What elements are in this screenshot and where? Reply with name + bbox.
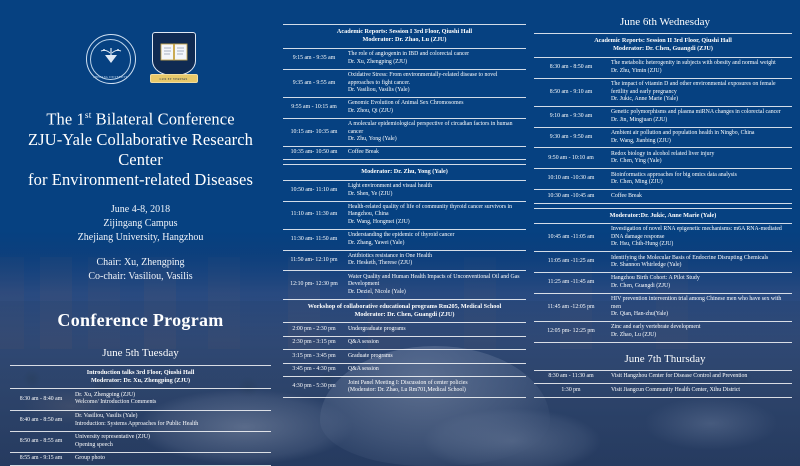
zju-seal-ring-text: ZHEJIANG UNIVERSITY — [87, 76, 135, 79]
table-row: 9:10 am - 9:30 amGenetic polymorphisms a… — [534, 106, 792, 127]
day-heading-june5: June 5th Tuesday — [0, 347, 281, 359]
conf-dates: June 4-8, 2018 — [0, 203, 281, 217]
zju-bird-glyph — [98, 45, 124, 67]
session-time: 10:30 am -10:45 am — [534, 190, 608, 203]
yale-shield-icon: LUX ET VERITAS — [152, 32, 196, 84]
session-time: 8:50 am - 8:55 am — [10, 431, 72, 452]
session-description: A molecular epidemiological perspective … — [345, 118, 526, 146]
right-column: June 6th Wednesday Academic Reports: Ses… — [530, 0, 800, 466]
table-row: 8:30 am - 11:30 amVisit Hangzhou Center … — [534, 370, 792, 383]
table-row: 2:30 pm - 3:15 pmQ&A session — [283, 336, 526, 349]
conf-title-line1b: Bilateral Conference — [91, 110, 234, 129]
session-time: 11:05 am -11:25 am — [534, 252, 608, 273]
session-description: Q&A session — [345, 336, 526, 349]
table-row: 11:30 am- 11:50 amUnderstanding the epid… — [283, 229, 526, 250]
session-header-intro-talks-label: Introduction talks 3rd Floor, Qiushi Hal… — [10, 365, 271, 389]
session-description: Coffee Break — [345, 146, 526, 159]
table-row: 8:55 am - 9:15 amGroup photo — [10, 452, 271, 466]
session-description: Hangzhou Birth Cohort: A Pilot StudyDr. … — [608, 272, 792, 293]
session-time: 8:30 am - 8:50 am — [534, 57, 608, 78]
table-row: 12:05 pm- 12:25 pmZinc and early vertebr… — [534, 321, 792, 342]
session-time: 10:45 am -11:05 am — [534, 223, 608, 251]
session-description: Genomic Evolution of Animal Sex Chromoso… — [345, 97, 526, 118]
session-time: 9:50 am - 10:10 am — [534, 148, 608, 169]
day-heading-june6: June 6th Wednesday — [530, 16, 800, 28]
session-description: Coffee Break — [608, 190, 792, 203]
session-time: 2:00 pm - 2:30 pm — [283, 323, 345, 336]
table-row: 11:05 am -11:25 amIdentifying the Molecu… — [534, 252, 792, 273]
session-time: 4:30 pm - 5:30 pm — [283, 377, 345, 398]
session-description: Understanding the epidemic of thyroid ca… — [345, 229, 526, 250]
yale-ribbon-text: LUX ET VERITAS — [150, 74, 198, 83]
session-header-session1b-label: Moderator: Dr. Zhu, Yong (Yale) — [283, 165, 526, 180]
session-time: 8:30 am - 11:30 am — [534, 370, 608, 383]
page-title: The 1st Bilateral Conference ZJU-Yale Co… — [0, 106, 281, 190]
session-description: Zinc and early vertebrate developmentDr.… — [608, 321, 792, 342]
table-row: 8:30 am - 8:40 amDr. Xu, Zhengping (ZJU)… — [10, 389, 271, 410]
session-description: Dr. Xu, Zhengping (ZJU)Welcome/ Introduc… — [72, 389, 271, 410]
table-row: 2:00 pm - 2:30 pmUndergraduate programs — [283, 323, 526, 336]
session-description: Group photo — [72, 452, 271, 466]
table-row: 4:30 pm - 5:30 pmJoint Panel Meeting I: … — [283, 377, 526, 398]
zju-seal-icon: ZHEJIANG UNIVERSITY — [86, 34, 136, 84]
table-row: 10:10 am -10:30 amBioinformatics approac… — [534, 169, 792, 190]
table-row: 8:50 am - 9:10 amThe impact of vitamin D… — [534, 78, 792, 106]
table-row: 1:30 pmVisit Jiangcun Community Health C… — [534, 384, 792, 397]
conf-title-line3: for Environment-related Diseases — [28, 170, 253, 189]
session-time: 2:30 pm - 3:15 pm — [283, 336, 345, 349]
session-description: Dr. Vasiliou, Vasilis (Yale)Introduction… — [72, 410, 271, 431]
table-row: 11:50 am- 12:10 pmAntibiotics resistance… — [283, 250, 526, 271]
schedule-body-june5: Introduction talks 3rd Floor, Qiushi Hal… — [10, 365, 271, 466]
session-time: 8:40 am - 8:50 am — [10, 410, 72, 431]
session-time: 8:50 am - 9:10 am — [534, 78, 608, 106]
session-header-session1: Academic Reports: Session I 3rd Floor, Q… — [283, 25, 526, 49]
session-time: 9:55 am - 10:15 am — [283, 97, 345, 118]
session-description: Light environment and visual healthDr. S… — [345, 180, 526, 201]
session-description: Investigation of novel RNA epigenetic me… — [608, 223, 792, 251]
session-header-intro-talks: Introduction talks 3rd Floor, Qiushi Hal… — [10, 365, 271, 389]
session-description: Water Quality and Human Health Impacts o… — [345, 271, 526, 299]
table-row: 9:50 am - 10:10 amRedox biology in alcoh… — [534, 148, 792, 169]
session-description: Antibiotics resistance in One HealthDr. … — [345, 250, 526, 271]
table-row: 3:15 pm - 3:45 pmGraduate programs — [283, 350, 526, 363]
session-description: Health-related quality of life of commun… — [345, 201, 526, 229]
session-description: Visit Jiangcun Community Health Center, … — [608, 384, 792, 397]
middle-column: Academic Reports: Session I 3rd Floor, Q… — [281, 0, 530, 466]
left-column: ZHEJIANG UNIVERSITY LUX ET VERITAS — [0, 0, 281, 466]
schedule-table-session1: Academic Reports: Session I 3rd Floor, Q… — [283, 24, 526, 398]
session-time: 3:15 pm - 3:45 pm — [283, 350, 345, 363]
logo-row: ZHEJIANG UNIVERSITY LUX ET VERITAS — [0, 30, 281, 84]
session-header-session2b: Moderator:Dr. Jukic, Anne Marie (Yale) — [534, 208, 792, 223]
session-description: Identifying the Molecular Basis of Endoc… — [608, 252, 792, 273]
table-row: 11:10 am- 11:30 amHealth-related quality… — [283, 201, 526, 229]
session-header-session2b-label: Moderator:Dr. Jukic, Anne Marie (Yale) — [534, 208, 792, 223]
conf-title-line2: ZJU-Yale Collaborative Research Center — [28, 130, 253, 169]
table-row: 11:25 am -11:45 amHangzhou Birth Cohort:… — [534, 272, 792, 293]
table-row: 11:45 am -12:05 pmHIV prevention interve… — [534, 293, 792, 321]
session-header-workshop-label: Workshop of collaborative educational pr… — [283, 299, 526, 323]
table-row: 8:50 am - 8:55 amUniversity representati… — [10, 431, 271, 452]
session-time: 11:45 am -12:05 pm — [534, 293, 608, 321]
yale-open-book-glyph — [160, 42, 188, 62]
session-description: Q&A session — [345, 363, 526, 376]
session-time: 9:15 am - 9:35 am — [283, 48, 345, 69]
session-time: 12:05 pm- 12:25 pm — [534, 321, 608, 342]
table-row: 10:50 am- 11:10 amLight environment and … — [283, 180, 526, 201]
conf-campus: Zijingang Campus — [0, 217, 281, 231]
table-row: 9:30 am - 9:50 amAmbient air pollution a… — [534, 127, 792, 148]
session-time: 1:30 pm — [534, 384, 608, 397]
table-row: 10:15 am- 10:35 amA molecular epidemiolo… — [283, 118, 526, 146]
session-time: 8:30 am - 8:40 am — [10, 389, 72, 410]
table-row: 9:55 am - 10:15 amGenomic Evolution of A… — [283, 97, 526, 118]
schedule-table-june7: 8:30 am - 11:30 amVisit Hangzhou Center … — [534, 370, 792, 398]
conf-university: Zhejiang University, Hangzhou — [0, 231, 281, 245]
table-row: 10:35 am- 10:50 amCoffee Break — [283, 146, 526, 159]
yale-shield-body — [152, 32, 196, 76]
schedule-table-june6: Academic Reports: Session II 3rd Floor, … — [534, 33, 792, 343]
session-description: Undergraduate programs — [345, 323, 526, 336]
session-header-session2-label: Academic Reports: Session II 3rd Floor, … — [534, 34, 792, 58]
schedule-body-session1: Academic Reports: Session I 3rd Floor, Q… — [283, 25, 526, 398]
session-time: 9:35 am - 9:55 am — [283, 69, 345, 97]
schedule-body-june7: 8:30 am - 11:30 amVisit Hangzhou Center … — [534, 370, 792, 397]
session-description: The impact of vitamin D and other enviro… — [608, 78, 792, 106]
conf-title-line1: The 1 — [46, 110, 85, 129]
session-description: Redox biology in alcohol related liver i… — [608, 148, 792, 169]
session-time: 10:50 am- 11:10 am — [283, 180, 345, 201]
table-row: 10:30 am -10:45 amCoffee Break — [534, 190, 792, 203]
session-description: HIV prevention intervention trial among … — [608, 293, 792, 321]
session-time: 3:45 pm - 4:30 pm — [283, 363, 345, 376]
venue-block: June 4-8, 2018 Zijingang Campus Zhejiang… — [0, 203, 281, 245]
session-time: 11:30 am- 11:50 am — [283, 229, 345, 250]
session-time: 10:35 am- 10:50 am — [283, 146, 345, 159]
table-row: 9:15 am - 9:35 amThe role of angiogenin … — [283, 48, 526, 69]
session-time: 11:25 am -11:45 am — [534, 272, 608, 293]
table-row: 3:45 pm - 4:30 pmQ&A session — [283, 363, 526, 376]
program-heading: Conference Program — [0, 310, 281, 331]
session-description: Oxidative Stress: From environmentally-r… — [345, 69, 526, 97]
session-description: The role of angiogenin in IBD and colore… — [345, 48, 526, 69]
session-time: 10:10 am -10:30 am — [534, 169, 608, 190]
chairs-block: Chair: Xu, Zhengping Co-chair: Vasiliou,… — [0, 256, 281, 284]
session-description: University representative (ZJU)Opening s… — [72, 431, 271, 452]
session-description: Visit Hangzhou Center for Disease Contro… — [608, 370, 792, 383]
table-row: 9:35 am - 9:55 amOxidative Stress: From … — [283, 69, 526, 97]
table-row: 8:40 am - 8:50 amDr. Vasiliou, Vasilis (… — [10, 410, 271, 431]
session-time: 11:10 am- 11:30 am — [283, 201, 345, 229]
session-time: 9:10 am - 9:30 am — [534, 106, 608, 127]
session-description: The metabolic heterogenity in subjects w… — [608, 57, 792, 78]
table-row: 8:30 am - 8:50 amThe metabolic heterogen… — [534, 57, 792, 78]
session-time: 12:10 pm- 12:30 pm — [283, 271, 345, 299]
session-description: Ambient air pollution and population hea… — [608, 127, 792, 148]
table-row: 12:10 pm- 12:30 pmWater Quality and Huma… — [283, 271, 526, 299]
session-header-session1-label: Academic Reports: Session I 3rd Floor, Q… — [283, 25, 526, 49]
session-description: Genetic polymorphisms and plasma miRNA c… — [608, 106, 792, 127]
schedule-body-june6: Academic Reports: Session II 3rd Floor, … — [534, 34, 792, 343]
session-time: 10:15 am- 10:35 am — [283, 118, 345, 146]
conference-poster: ZHEJIANG UNIVERSITY LUX ET VERITAS — [0, 0, 800, 466]
session-time: 11:50 am- 12:10 pm — [283, 250, 345, 271]
session-header-workshop: Workshop of collaborative educational pr… — [283, 299, 526, 323]
schedule-table-june5: Introduction talks 3rd Floor, Qiushi Hal… — [10, 365, 271, 466]
session-description: Graduate programs — [345, 350, 526, 363]
session-time: 8:55 am - 9:15 am — [10, 452, 72, 466]
session-description: Joint Panel Meeting I: Discussion of cen… — [345, 377, 526, 398]
session-description: Bioinformatics approaches for big omics … — [608, 169, 792, 190]
conf-cochair: Co-chair: Vasiliou, Vasilis — [0, 270, 281, 284]
session-header-session2: Academic Reports: Session II 3rd Floor, … — [534, 34, 792, 58]
conf-chair: Chair: Xu, Zhengping — [0, 256, 281, 270]
session-time: 9:30 am - 9:50 am — [534, 127, 608, 148]
day-heading-june7: June 7th Thursday — [530, 353, 800, 365]
table-row: 10:45 am -11:05 amInvestigation of novel… — [534, 223, 792, 251]
session-header-session1b: Moderator: Dr. Zhu, Yong (Yale) — [283, 165, 526, 180]
